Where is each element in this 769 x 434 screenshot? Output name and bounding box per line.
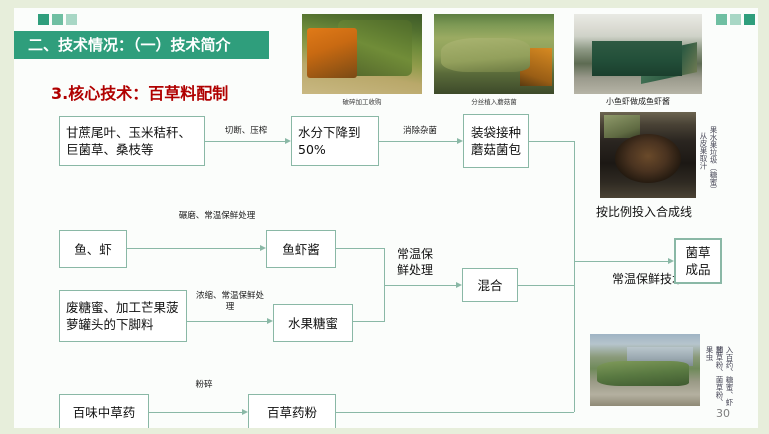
- connector-fruit-up: [384, 285, 385, 322]
- connector-fish-to-sauce: [127, 248, 262, 249]
- section-subtitle: 3.核心技术：百草料配制: [51, 80, 228, 104]
- box-fish-shrimp[interactable]: 鱼、虾: [59, 230, 127, 268]
- label-grind-fresh: 碾磨、常温保鲜处理: [174, 211, 260, 222]
- box-moisture[interactable]: 水分下降到50%: [291, 116, 379, 166]
- photo-inoculate-mushroom: [434, 14, 554, 94]
- slide-root: 二、技术情况：（一）技术简介 3.核心技术：百草料配制 破碎加工收购 分丝植入蘑…: [0, 0, 769, 434]
- connector-trunk-upper: [574, 141, 575, 261]
- connector-fish-sauce-down: [384, 248, 385, 285]
- box-bagging[interactable]: 装袋接种蘑菇菌包: [463, 114, 529, 168]
- photo-crushing-purchase: [302, 14, 422, 94]
- decor-square-mid: [52, 14, 63, 25]
- label-crush: 粉碎: [184, 380, 224, 391]
- photo-caption-fish-sauce: 小鱼虾做成鱼虾酱: [570, 96, 706, 107]
- connector-waste-to-fruit: [187, 321, 269, 322]
- photo-caption-molasses-a: 果水果垃圾（糖蜜）: [708, 126, 718, 210]
- box-herbs[interactable]: 百味中草药: [59, 394, 149, 428]
- decor-square-light: [66, 14, 77, 25]
- slide-canvas: 二、技术情况：（一）技术简介 3.核心技术：百草料配制 破碎加工收购 分丝植入蘑…: [14, 8, 758, 428]
- connector-trunk-to-product: [574, 261, 670, 262]
- photo-fruit-molasses-pot: [600, 112, 696, 198]
- connector-fish-sauce-right: [336, 248, 384, 249]
- label-normal-temp-fresh: 常温保鲜处理: [392, 246, 438, 278]
- box-fruit-molasses[interactable]: 水果糖蜜: [273, 304, 353, 342]
- label-concentrate-fresh: 浓缩、常温保鲜处理: [194, 291, 266, 313]
- connector-moisture-to-bagging: [379, 141, 459, 142]
- decor-square-mid: [716, 14, 727, 25]
- decor-square-dark: [744, 14, 755, 25]
- photo-caption-inoculate: 分丝植入蘑菇菌: [434, 96, 554, 106]
- page-title: 二、技术情况：（一）技术简介: [28, 32, 280, 58]
- connector-to-mixing: [384, 285, 458, 286]
- photo-caption-crushing: 破碎加工收购: [302, 96, 422, 106]
- label-proportion-line: 按比例投入合成线: [596, 204, 692, 220]
- box-final-product[interactable]: 菌草成品: [674, 238, 722, 284]
- connector-mixing-right: [518, 285, 574, 286]
- label-cut-press: 切断、压榨: [210, 126, 282, 137]
- label-remove-bacteria: 消除杂菌: [386, 126, 454, 137]
- photo-feeding-trough: [590, 334, 700, 406]
- connector-raw-to-moisture: [205, 141, 287, 142]
- decor-square-dark: [38, 14, 49, 25]
- connector-herbs-to-powder: [149, 412, 244, 413]
- decor-square-light: [730, 14, 741, 25]
- page-number: 30: [716, 407, 730, 420]
- photo-caption-trough-b: 加草粉、菌草粉、果虫: [704, 346, 724, 406]
- photo-caption-molasses-b: 从皮果取汁: [698, 132, 708, 204]
- connector-trunk-lower: [574, 261, 575, 412]
- box-herb-powder[interactable]: 百草药粉: [248, 394, 336, 428]
- connector-bagging-right: [529, 141, 574, 142]
- decor-squares-left: [38, 14, 77, 25]
- box-raw-plant[interactable]: 甘蔗尾叶、玉米秸秆、巨菌草、桑枝等: [59, 116, 205, 166]
- box-mixing[interactable]: 混合: [462, 268, 518, 302]
- box-fish-sauce[interactable]: 鱼虾酱: [266, 230, 336, 268]
- connector-fruit-right: [353, 321, 384, 322]
- decor-squares-right: [716, 14, 755, 25]
- connector-powder-right: [336, 412, 574, 413]
- photo-fish-shrimp-sauce: [574, 14, 702, 94]
- box-molasses-waste[interactable]: 废糖蜜、加工芒果菠萝罐头的下脚料: [59, 290, 187, 342]
